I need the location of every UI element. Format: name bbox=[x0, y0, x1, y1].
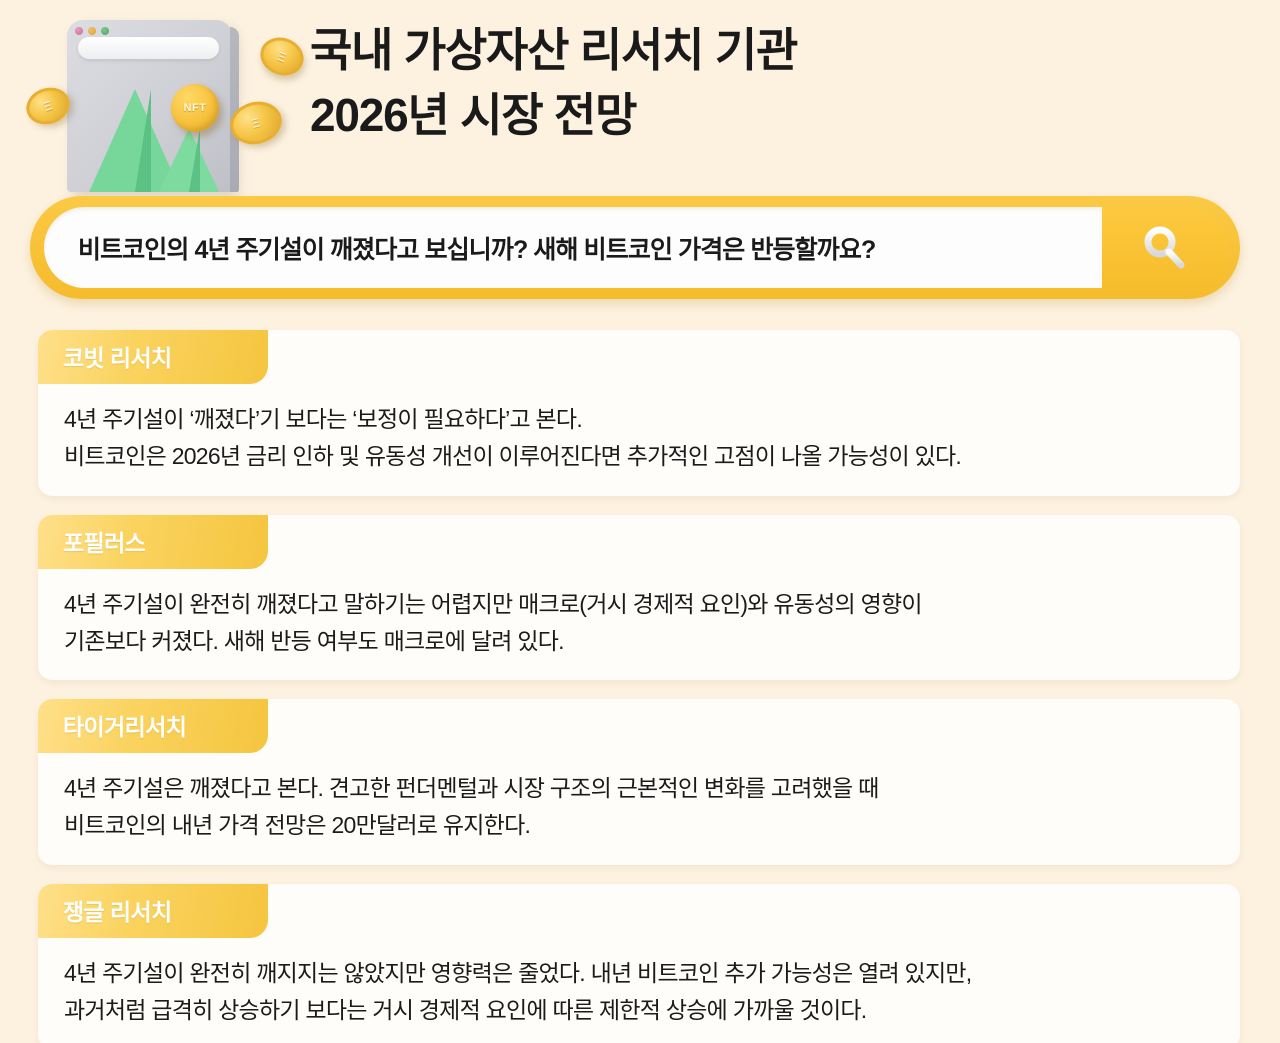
research-card-list: 코빗 리서치 4년 주기설이 ‘깨졌다’기 보다는 ‘보정이 필요하다’고 본다… bbox=[0, 330, 1280, 1043]
search-input[interactable]: 비트코인의 4년 주기설이 깨졌다고 보십니까? 새해 비트코인 가격은 반등할… bbox=[44, 207, 1102, 288]
search-button[interactable] bbox=[1102, 207, 1228, 288]
card-tag-label: 코빗 리서치 bbox=[38, 330, 268, 384]
card-body: 4년 주기설은 깨졌다고 본다. 견고한 펀더멘털과 시장 구조의 근본적인 변… bbox=[38, 753, 1240, 845]
browser-dot-red-icon bbox=[75, 27, 83, 35]
nft-coin-icon: NFT bbox=[171, 84, 219, 132]
page-title-line-2: 2026년 시장 전망 bbox=[310, 83, 1210, 148]
card-text-line: 4년 주기설이 ‘깨졌다’기 보다는 ‘보정이 필요하다’고 본다. bbox=[64, 401, 1214, 438]
browser-dot-yellow-icon bbox=[88, 27, 96, 35]
card-body: 4년 주기설이 ‘깨졌다’기 보다는 ‘보정이 필요하다’고 본다. 비트코인은… bbox=[38, 384, 1240, 476]
card-tag-label: 포필러스 bbox=[38, 515, 268, 569]
browser-window-graphic: NFT bbox=[67, 20, 232, 192]
search-query-text: 비트코인의 4년 주기설이 깨졌다고 보십니까? 새해 비트코인 가격은 반등할… bbox=[78, 230, 875, 266]
research-card: 타이거리서치 4년 주기설은 깨졌다고 본다. 견고한 펀더멘털과 시장 구조의… bbox=[38, 699, 1240, 865]
research-card: 코빗 리서치 4년 주기설이 ‘깨졌다’기 보다는 ‘보정이 필요하다’고 본다… bbox=[38, 330, 1240, 496]
coin-symbol-3: Ξ bbox=[251, 116, 261, 130]
mountain-small-shade-icon bbox=[189, 128, 200, 192]
card-text-line: 비트코인의 내년 가격 전망은 20만달러로 유지한다. bbox=[64, 807, 1214, 844]
nft-coin-label: NFT bbox=[184, 102, 207, 114]
page-title-line-1: 국내 가상자산 리서치 기관 bbox=[310, 18, 1210, 83]
coin-symbol-2: Ξ bbox=[276, 50, 287, 64]
coin-symbol-1: Ξ bbox=[42, 99, 53, 113]
page-header: NFT Ξ Ξ Ξ 국내 가상자산 리서치 기관 2026년 시장 전망 bbox=[0, 0, 1280, 196]
card-text-line: 4년 주기설은 깨졌다고 본다. 견고한 펀더멘털과 시장 구조의 근본적인 변… bbox=[64, 770, 1214, 807]
mountain-large-shade-icon bbox=[135, 89, 151, 192]
card-body: 4년 주기설이 완전히 깨지지는 않았지만 영향력은 줄었다. 내년 비트코인 … bbox=[38, 938, 1240, 1030]
card-tag-label: 쟁글 리서치 bbox=[38, 884, 268, 938]
card-text-line: 기존보다 커졌다. 새해 반등 여부도 매크로에 달려 있다. bbox=[64, 623, 1214, 660]
card-text-line: 비트코인은 2026년 금리 인하 및 유동성 개선이 이루어진다면 추가적인 … bbox=[64, 438, 1214, 475]
card-tag-label: 타이거리서치 bbox=[38, 699, 268, 753]
header-illustration: NFT Ξ Ξ Ξ bbox=[12, 6, 287, 196]
card-body: 4년 주기설이 완전히 깨졌다고 말하기는 어렵지만 매크로(거시 경제적 요인… bbox=[38, 569, 1240, 661]
card-text-line: 과거처럼 급격히 상승하기 보다는 거시 경제적 요인에 따른 제한적 상승에 … bbox=[64, 992, 1214, 1029]
card-text-line: 4년 주기설이 완전히 깨지지는 않았지만 영향력은 줄었다. 내년 비트코인 … bbox=[64, 955, 1214, 992]
crypto-coin-icon-2: Ξ bbox=[255, 32, 309, 82]
search-bar[interactable]: 비트코인의 4년 주기설이 깨졌다고 보십니까? 새해 비트코인 가격은 반등할… bbox=[30, 196, 1240, 299]
page-title: 국내 가상자산 리서치 기관 2026년 시장 전망 bbox=[310, 18, 1210, 149]
research-card: 쟁글 리서치 4년 주기설이 완전히 깨지지는 않았지만 영향력은 줄었다. 내… bbox=[38, 884, 1240, 1043]
search-icon bbox=[1139, 222, 1191, 274]
browser-url-bar-graphic bbox=[78, 37, 219, 59]
research-card: 포필러스 4년 주기설이 완전히 깨졌다고 말하기는 어렵지만 매크로(거시 경… bbox=[38, 515, 1240, 681]
card-text-line: 4년 주기설이 완전히 깨졌다고 말하기는 어렵지만 매크로(거시 경제적 요인… bbox=[64, 586, 1214, 623]
browser-dot-green-icon bbox=[101, 27, 109, 35]
